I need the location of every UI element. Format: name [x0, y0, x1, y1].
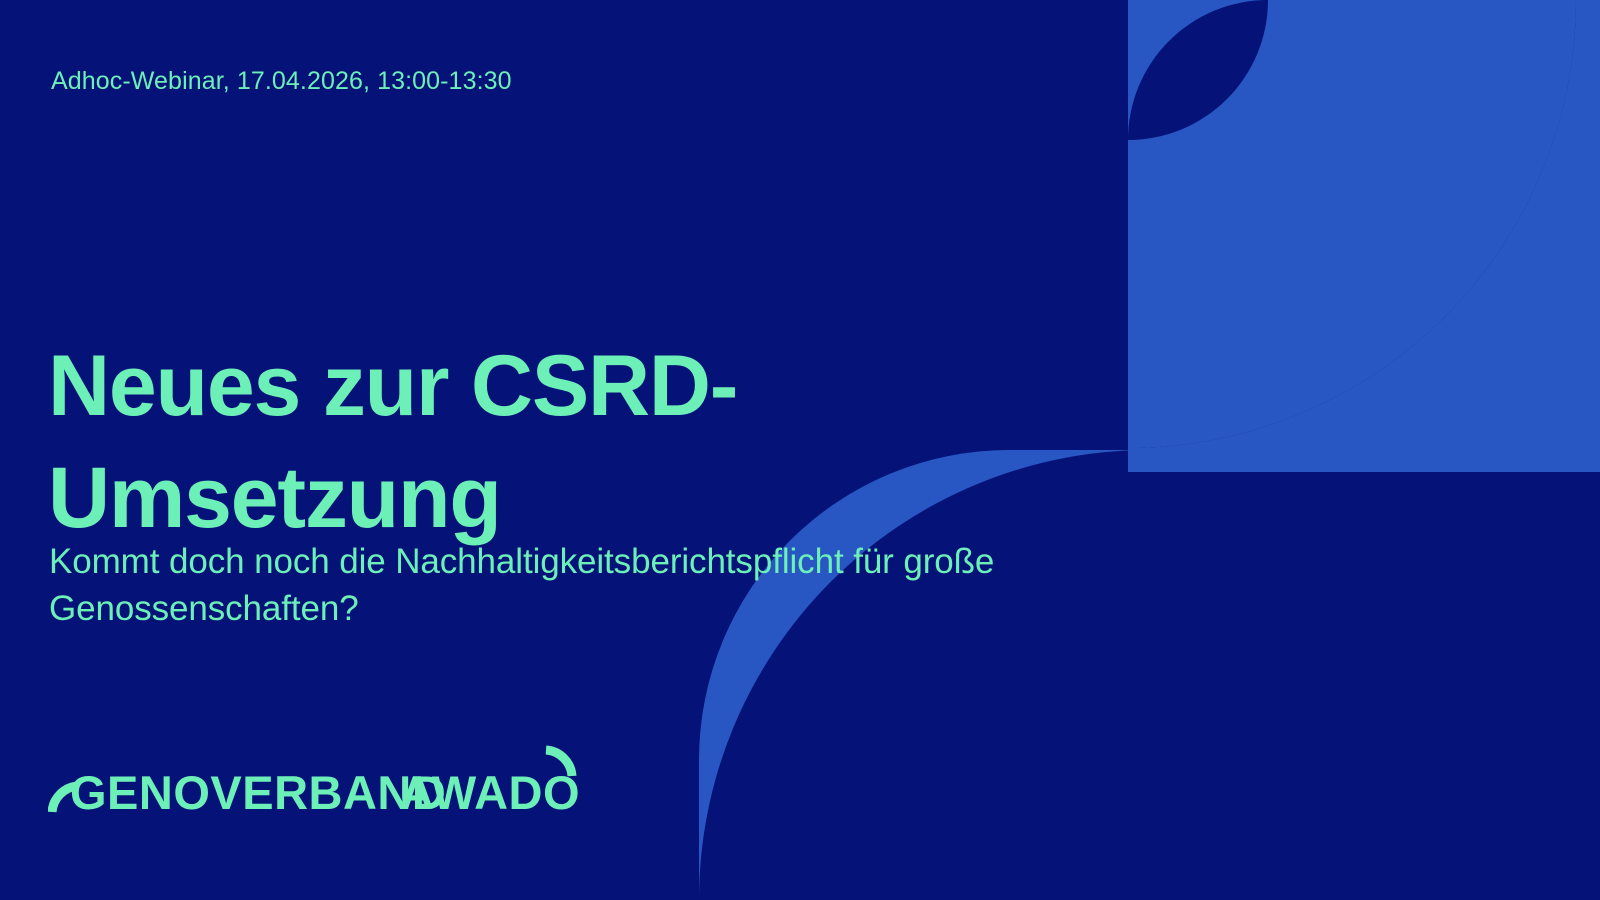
logo-primary-text: GENOVERBAND — [70, 766, 446, 819]
slide-content: Adhoc-Webinar, 17.04.2026, 13:00-13:30 N… — [0, 0, 1600, 900]
logo-secondary-text: AWADO — [400, 766, 580, 819]
brand-logo: GENOVERBAND AWADO — [48, 742, 588, 834]
page-subtitle: Kommt doch noch die Nachhaltigkeitsberic… — [49, 538, 1159, 632]
page-title: Neues zur CSRD-Umsetzung — [48, 330, 878, 554]
event-meta-line: Adhoc-Webinar, 17.04.2026, 13:00-13:30 — [51, 64, 512, 98]
title-slide: Adhoc-Webinar, 17.04.2026, 13:00-13:30 N… — [0, 0, 1600, 900]
